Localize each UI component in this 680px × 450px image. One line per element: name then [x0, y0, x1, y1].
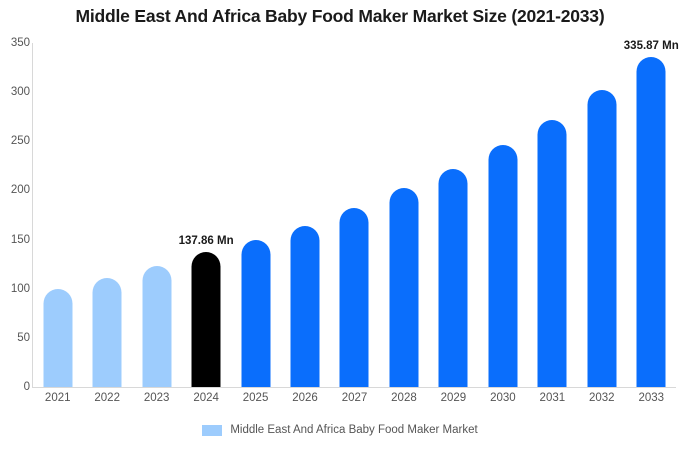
bar[interactable] [291, 226, 320, 387]
y-axis-tick-label: 300 [2, 86, 30, 98]
chart-title: Middle East And Africa Baby Food Maker M… [0, 6, 680, 27]
bar-slot [33, 43, 82, 387]
bar-slot [429, 43, 478, 387]
bar[interactable] [340, 208, 369, 387]
bar[interactable] [637, 57, 666, 387]
bar-slot [231, 43, 280, 387]
bar[interactable] [587, 90, 616, 387]
bar[interactable] [488, 145, 517, 387]
x-axis-tick-label: 2028 [391, 392, 417, 404]
y-axis-tick-label: 150 [2, 234, 30, 246]
x-axis-tick-label: 2026 [292, 392, 318, 404]
bar[interactable] [43, 289, 72, 387]
y-axis-tick-label: 350 [2, 37, 30, 49]
bar-slot [528, 43, 577, 387]
x-axis-tick-label: 2027 [342, 392, 368, 404]
bar-slot [478, 43, 527, 387]
bar[interactable] [192, 252, 221, 387]
x-axis-tick-label: 2030 [490, 392, 516, 404]
bar[interactable] [142, 266, 171, 387]
x-axis-line [32, 387, 676, 388]
x-axis-tick-label: 2032 [589, 392, 615, 404]
bar[interactable] [538, 120, 567, 387]
x-axis-tick-label: 2031 [540, 392, 566, 404]
y-axis-tick-label: 200 [2, 184, 30, 196]
x-axis-tick-label: 2021 [45, 392, 71, 404]
legend-label: Middle East And Africa Baby Food Maker M… [230, 424, 477, 436]
y-axis-tick-label: 250 [2, 135, 30, 147]
x-axis-tick-label: 2022 [94, 392, 120, 404]
x-axis-tick-label: 2023 [144, 392, 170, 404]
bar-chart: Middle East And Africa Baby Food Maker M… [0, 0, 680, 450]
x-axis-tick-label: 2025 [243, 392, 269, 404]
y-axis-tick-label: 50 [2, 332, 30, 344]
bar-slot [280, 43, 329, 387]
bar-value-label: 137.86 Mn [179, 235, 234, 247]
bar[interactable] [389, 188, 418, 387]
bar-value-label: 335.87 Mn [624, 40, 679, 52]
y-axis-tick-label: 0 [2, 381, 30, 393]
bar[interactable] [93, 278, 122, 387]
bar-slot [330, 43, 379, 387]
y-axis: 050100150200250300350 [0, 0, 30, 450]
x-axis-tick-label: 2033 [638, 392, 664, 404]
chart-legend: Middle East And Africa Baby Food Maker M… [0, 424, 680, 436]
x-axis-tick-label: 2024 [193, 392, 219, 404]
x-axis-tick-label: 2029 [441, 392, 467, 404]
plot-area [33, 43, 676, 387]
bar[interactable] [241, 240, 270, 387]
legend-swatch-icon [202, 425, 222, 436]
bar-slot [577, 43, 626, 387]
bar-slot [181, 43, 230, 387]
bar-slot [132, 43, 181, 387]
bar-slot [379, 43, 428, 387]
bar[interactable] [439, 169, 468, 387]
y-axis-tick-label: 100 [2, 283, 30, 295]
bar-slot [627, 43, 676, 387]
bar-slot [82, 43, 131, 387]
